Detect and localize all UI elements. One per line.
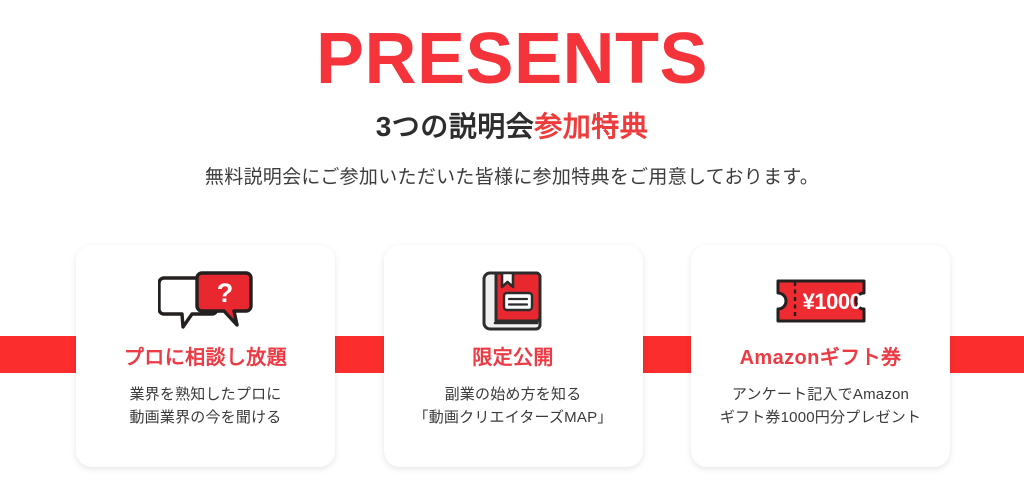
subheading-plain-text: 3つの説明会 xyxy=(376,111,535,142)
benefit-card-body: 副業の始め方を知る 「動画クリエイターズMAP」 xyxy=(414,383,613,429)
benefit-card-body: アンケート記入でAmazon ギフト券1000円分プレゼント xyxy=(720,383,921,429)
section-subheading: 3つの説明会参加特典 xyxy=(0,110,1024,144)
benefit-card-title: 限定公開 xyxy=(472,345,554,371)
benefit-card: 限定公開 副業の始め方を知る 「動画クリエイターズMAP」 xyxy=(384,245,643,467)
speech-bubbles-question-icon: ? xyxy=(158,263,254,339)
ticket-value-label: ¥1000 xyxy=(802,289,861,314)
closed-book-icon xyxy=(482,263,544,339)
benefit-card-body: 業界を熟知したプロに 動画業界の今を聞ける xyxy=(129,383,281,429)
presents-section: PRESENTS 3つの説明会参加特典 無料説明会にご参加いただいた皆様に参加特… xyxy=(0,0,1024,502)
benefit-card: ¥1000 Amazonギフト券 アンケート記入でAmazon ギフト券1000… xyxy=(691,245,950,467)
section-description: 無料説明会にご参加いただいた皆様に参加特典をご用意しております。 xyxy=(0,165,1024,191)
gift-ticket-icon: ¥1000 xyxy=(774,263,868,339)
benefit-card-title: Amazonギフト券 xyxy=(740,345,902,371)
benefit-card: ? プロに相談し放題 業界を熟知したプロに 動画業界の今を聞ける xyxy=(76,245,335,467)
subheading-accent-text: 参加特典 xyxy=(534,111,648,142)
benefit-card-list: ? プロに相談し放題 業界を熟知したプロに 動画業界の今を聞ける xyxy=(76,245,950,467)
svg-text:?: ? xyxy=(216,278,233,308)
benefit-card-title: プロに相談し放題 xyxy=(124,345,287,371)
page-title: PRESENTS xyxy=(0,20,1024,98)
